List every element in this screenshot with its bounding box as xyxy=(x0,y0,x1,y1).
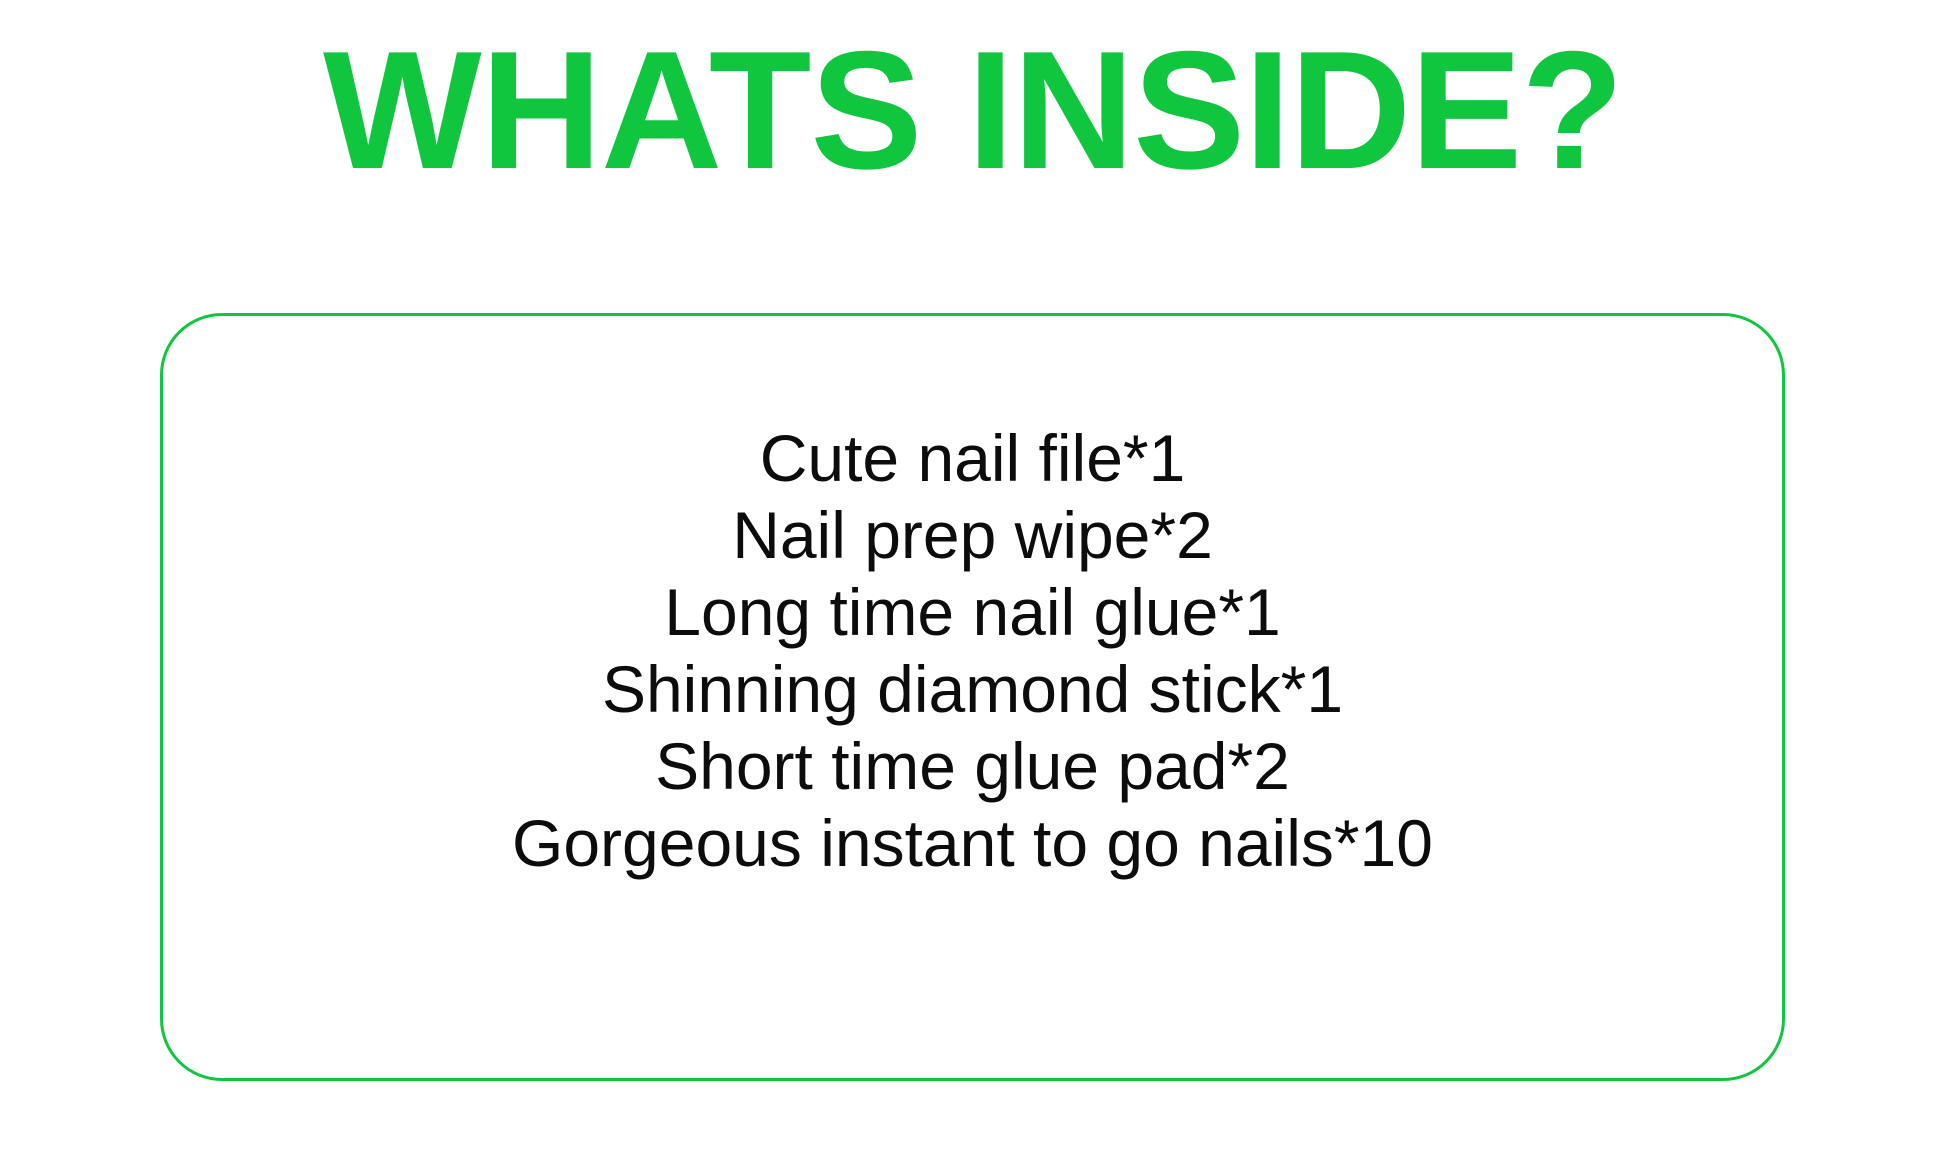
list-item: Long time nail glue*1 xyxy=(664,574,1280,651)
contents-list: Cute nail file*1 Nail prep wipe*2 Long t… xyxy=(163,420,1782,882)
list-item: Short time glue pad*2 xyxy=(655,728,1290,805)
list-item: Shinning diamond stick*1 xyxy=(602,651,1343,728)
list-item: Nail prep wipe*2 xyxy=(732,497,1213,574)
list-item: Cute nail file*1 xyxy=(760,420,1186,497)
infographic-page: WHATS INSIDE? Cute nail file*1 Nail prep… xyxy=(0,0,1946,1160)
contents-card: Cute nail file*1 Nail prep wipe*2 Long t… xyxy=(160,313,1785,1081)
list-item: Gorgeous instant to go nails*10 xyxy=(512,805,1433,882)
page-title: WHATS INSIDE? xyxy=(0,26,1946,194)
